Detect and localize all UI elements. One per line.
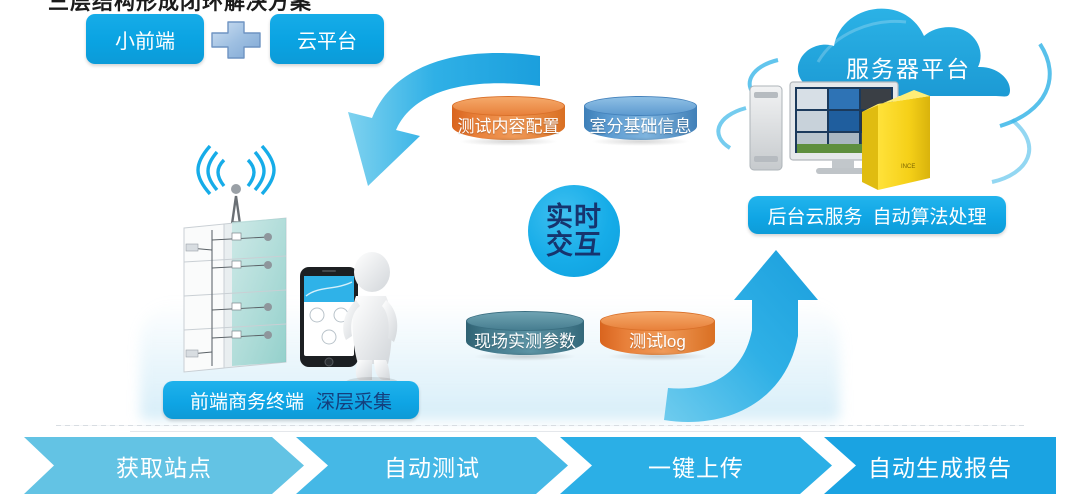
terminal-secondary-label: 深层采集 [316, 387, 392, 414]
cylinder-test-log-label: 测试log [600, 323, 715, 355]
process-step-auto-test[interactable]: 自动测试 [296, 437, 568, 494]
cylinder-field-parameters[interactable]: 现场实测参数 [466, 311, 584, 355]
building-floors-diagram-icon [184, 218, 286, 372]
diagram-canvas: 三层结构形成闭环解决方案 [0, 0, 1080, 494]
box-front-end-label: 小前端 [115, 25, 175, 54]
box-cloud-platform-label: 云平台 [297, 25, 357, 54]
yellow-server-box-icon: INCE [862, 90, 930, 190]
cylinder-room-base-info[interactable]: 室分基础信息 [584, 96, 697, 140]
realtime-interaction-badge: 实时 交互 [528, 185, 620, 277]
process-step-one-key-upload[interactable]: 一键上传 [560, 437, 832, 494]
divider-line [56, 425, 1024, 426]
label-cloud-service[interactable]: 后台云服务 自动算法处理 [748, 196, 1006, 234]
3d-person-figure-icon [343, 252, 398, 387]
smartphone-icon [300, 267, 358, 367]
box-cloud-platform[interactable]: 云平台 [270, 14, 384, 64]
antenna-tower-icon [198, 146, 274, 252]
process-flow-bar: 获取站点 自动测试 一键上传 自动生成报告 [24, 437, 1056, 494]
process-step-get-site[interactable]: 获取站点 [24, 437, 304, 494]
process-step-auto-report[interactable]: 自动生成报告 [824, 437, 1056, 494]
process-step-auto-test-label: 自动测试 [384, 449, 480, 483]
svg-text:INCE: INCE [901, 164, 915, 170]
realtime-line-1: 实时 [546, 203, 602, 231]
realtime-line-2: 交互 [546, 231, 602, 259]
cloud-service-primary-label: 后台云服务 [767, 202, 862, 229]
cloud-service-secondary-label: 自动算法处理 [873, 202, 987, 229]
process-step-get-site-label: 获取站点 [116, 449, 212, 483]
cylinder-room-base-info-label: 室分基础信息 [584, 108, 697, 140]
box-front-end[interactable]: 小前端 [86, 14, 204, 64]
terminal-primary-label: 前端商务终端 [190, 387, 304, 414]
plus-icon [206, 18, 266, 62]
cylinder-field-parameters-label: 现场实测参数 [466, 323, 584, 355]
cylinder-test-config-label: 测试内容配置 [452, 108, 565, 140]
process-step-one-key-upload-label: 一键上传 [648, 449, 744, 483]
desktop-computer-icon [750, 82, 898, 174]
label-front-end-terminal[interactable]: 前端商务终端 深层采集 [163, 381, 419, 419]
divider-line-secondary [130, 431, 960, 432]
cloud-platform-label: 服务器平台 [846, 50, 971, 84]
process-step-auto-report-label: 自动生成报告 [868, 449, 1012, 483]
cylinder-test-log[interactable]: 测试log [600, 311, 715, 355]
cylinder-test-config[interactable]: 测试内容配置 [452, 96, 565, 140]
